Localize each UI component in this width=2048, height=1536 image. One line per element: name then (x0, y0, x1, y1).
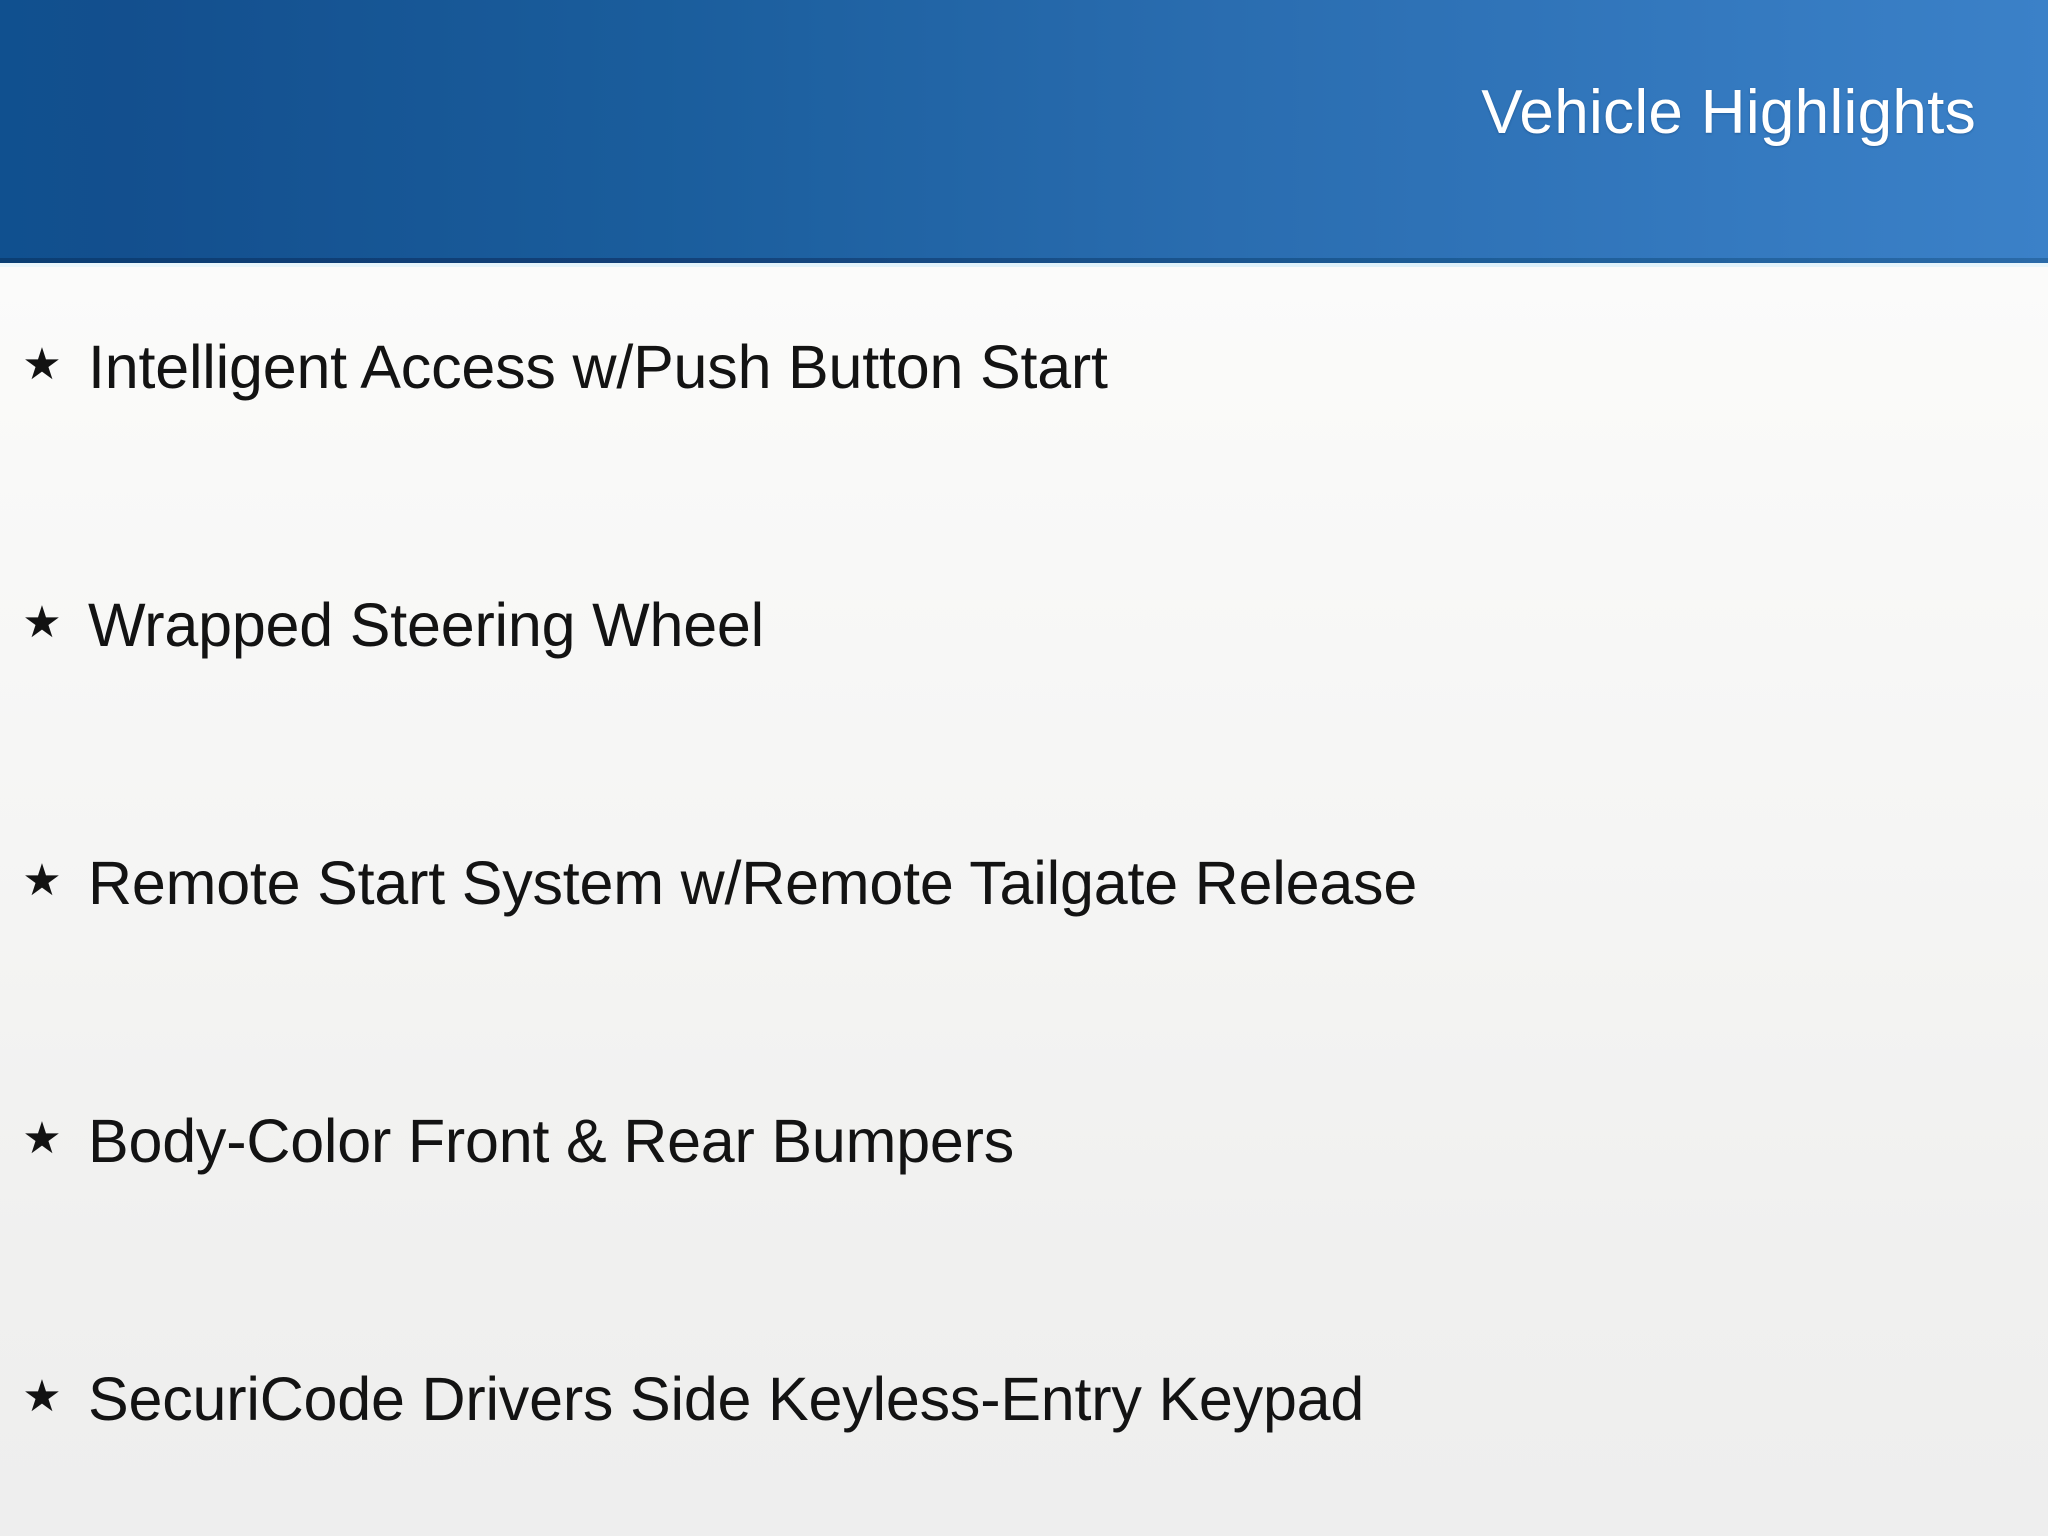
header-band: Vehicle Highlights (0, 0, 2048, 262)
star-icon: ★ (22, 601, 62, 645)
vehicle-highlights-slide: Vehicle Highlights ★ Intelligent Access … (0, 0, 2048, 1536)
list-item: ★ Body-Color Front & Rear Bumpers (22, 1098, 2028, 1184)
star-icon: ★ (22, 1375, 62, 1419)
highlight-label: Wrapped Steering Wheel (88, 593, 2028, 657)
star-icon: ★ (22, 343, 62, 387)
star-icon: ★ (22, 1117, 62, 1161)
list-item: ★ Remote Start System w/Remote Tailgate … (22, 840, 2028, 926)
highlight-label: Body-Color Front & Rear Bumpers (88, 1109, 2028, 1173)
highlights-list: ★ Intelligent Access w/Push Button Start… (0, 267, 2048, 1536)
highlight-label: Remote Start System w/Remote Tailgate Re… (88, 851, 2028, 915)
highlight-label: SecuriCode Drivers Side Keyless-Entry Ke… (88, 1367, 2028, 1431)
list-item: ★ Intelligent Access w/Push Button Start (22, 324, 2028, 410)
star-icon: ★ (22, 859, 62, 903)
page-title: Vehicle Highlights (1481, 82, 1976, 144)
highlight-label: Intelligent Access w/Push Button Start (88, 335, 2028, 399)
list-item: ★ SecuriCode Drivers Side Keyless-Entry … (22, 1356, 2028, 1442)
list-item: ★ Wrapped Steering Wheel (22, 582, 2028, 668)
